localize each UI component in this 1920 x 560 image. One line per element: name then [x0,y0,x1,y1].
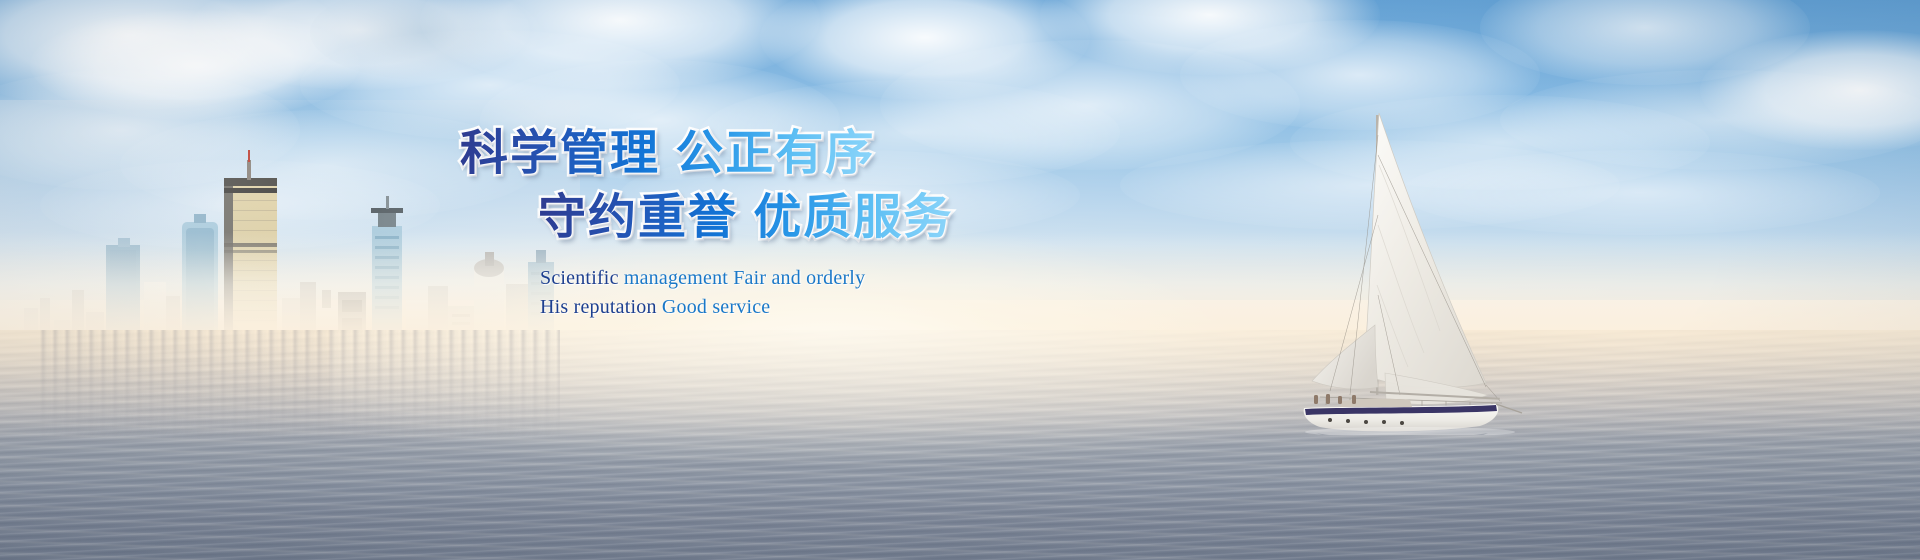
city-reflection [40,330,560,440]
subheadline-line-1-part-a: Scientific [540,267,624,289]
tower-antenna [248,150,250,162]
headline-line-1-fill: 科学管理 公正有序 [460,127,875,180]
hero-banner: 科学管理 公正有序 科学管理 公正有序 守约重誉 优质服务 守约重誉 优质服务 … [0,0,1920,560]
sailboat [1290,95,1550,435]
subheadline-line-2: His reputation Good service [540,295,1092,320]
banner-text-block: 科学管理 公正有序 科学管理 公正有序 守约重誉 优质服务 守约重誉 优质服务 … [452,126,1092,320]
headline-line-1: 科学管理 公正有序 科学管理 公正有序 [460,126,1092,182]
subheadline-line-1: Scientific management Fair and orderly [540,266,1092,291]
subheadline-line-2-part-a: His reputation [540,296,662,318]
headline-line-2-fill: 守约重誉 优质服务 [538,191,953,244]
subheadline-line-2-part-b: Good service [662,296,770,318]
headline-line-2: 守约重誉 优质服务 守约重誉 优质服务 [538,190,1092,246]
subheadline-block: Scientific management Fair and orderly H… [540,266,1092,320]
subheadline-line-1-part-b: management Fair and orderly [624,267,865,289]
